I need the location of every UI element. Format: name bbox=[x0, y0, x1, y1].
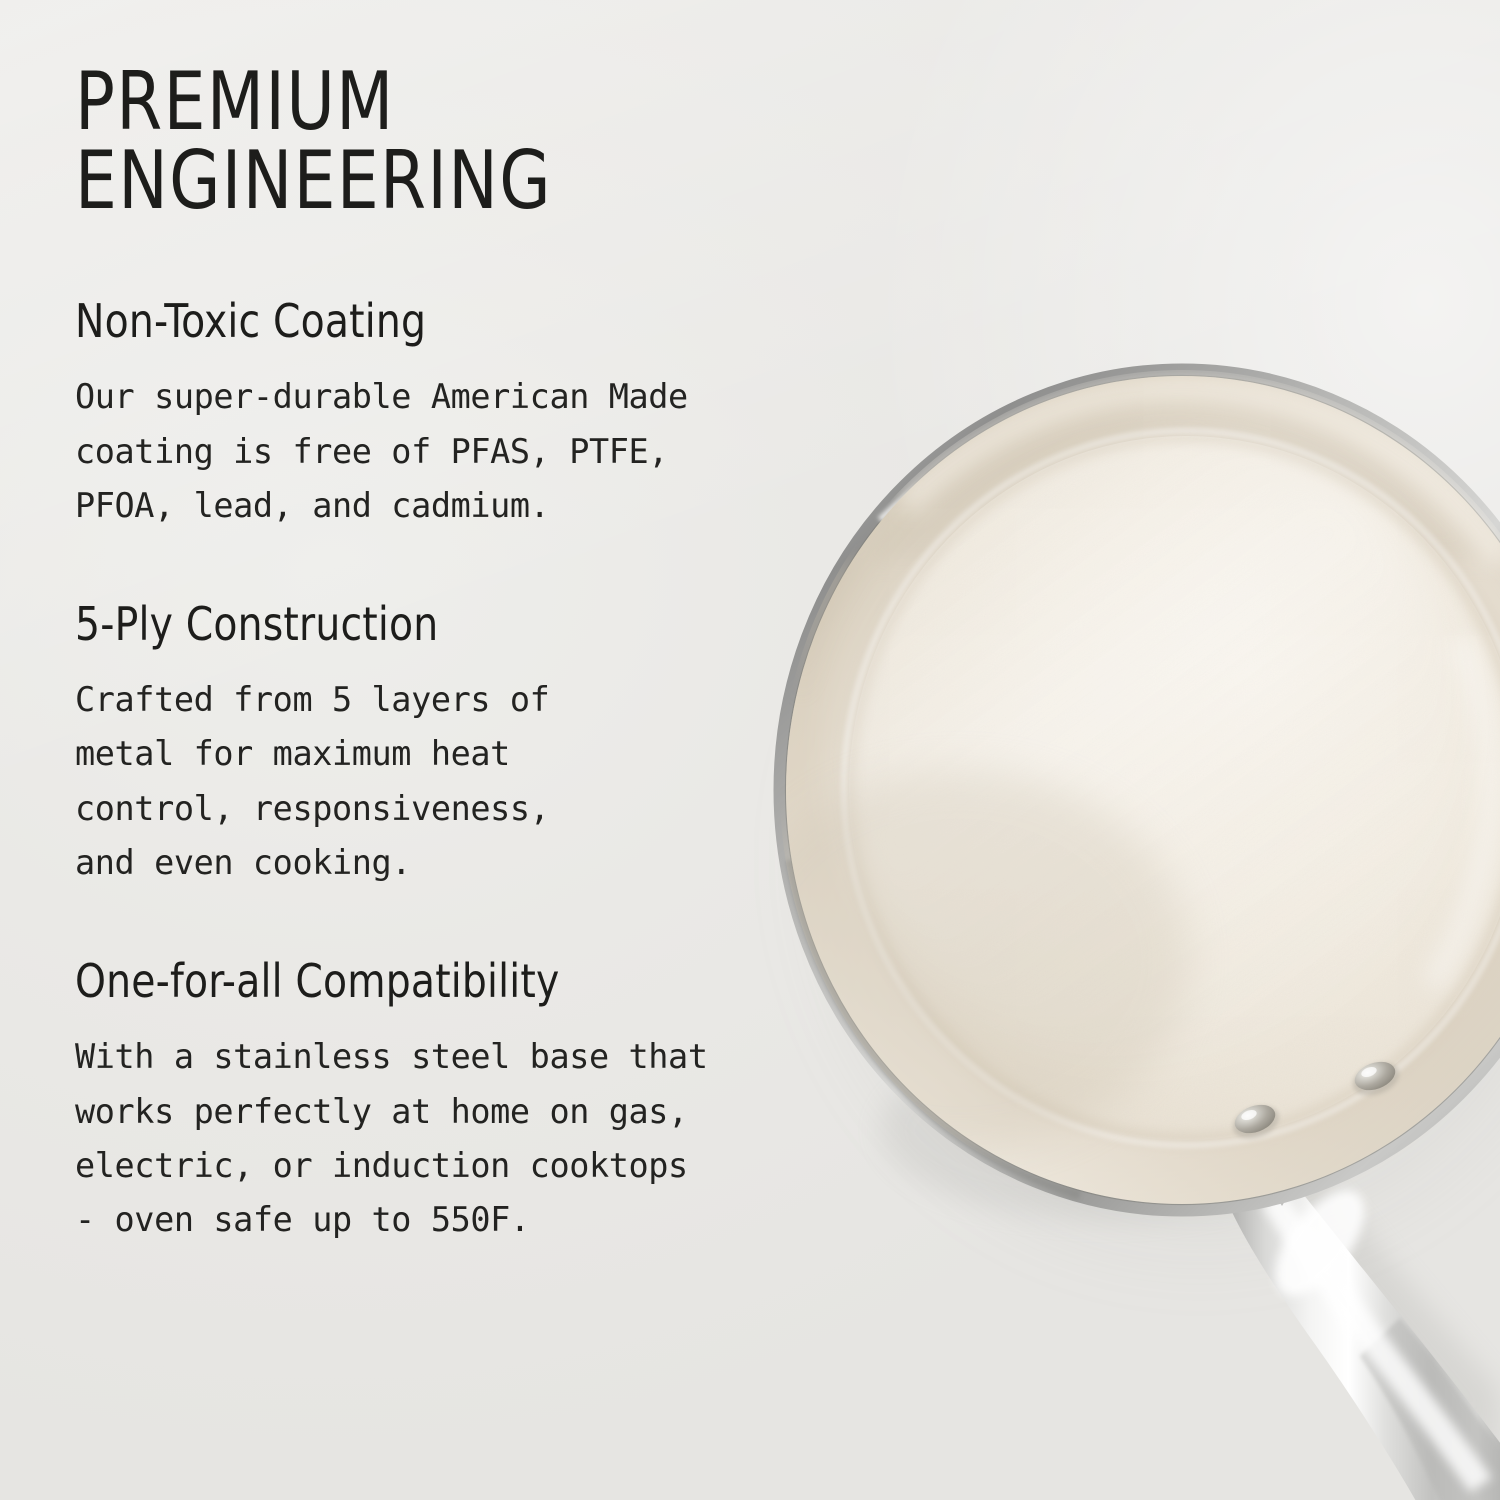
feature-non-toxic-coating: Non-Toxic Coating Our super-durable Amer… bbox=[75, 294, 865, 533]
rivet-upper-right bbox=[1348, 1057, 1403, 1102]
feature-title-5-ply-construction: 5-Ply Construction bbox=[75, 597, 826, 651]
feature-body-one-for-all-compatibility: With a stainless steel base that works p… bbox=[75, 1030, 865, 1247]
feature-title-one-for-all-compatibility: One-for-all Compatibility bbox=[75, 954, 826, 1008]
pan-rivets bbox=[1228, 1057, 1403, 1145]
pan-handle bbox=[1224, 1128, 1500, 1500]
pan-body bbox=[776, 366, 1500, 1214]
feature-body-non-toxic-coating: Our super-durable American Made coating … bbox=[75, 370, 865, 533]
pan-drop-shadow bbox=[780, 430, 1500, 1470]
page-title: PREMIUM ENGINEERING bbox=[75, 62, 802, 220]
rivet-lower-left bbox=[1228, 1100, 1283, 1145]
feature-title-non-toxic-coating: Non-Toxic Coating bbox=[75, 294, 826, 348]
feature-body-5-ply-construction: Crafted from 5 layers of metal for maxim… bbox=[75, 673, 865, 890]
feature-one-for-all-compatibility: One-for-all Compatibility With a stainle… bbox=[75, 954, 865, 1247]
feature-5-ply-construction: 5-Ply Construction Crafted from 5 layers… bbox=[75, 597, 865, 890]
feature-text-column: PREMIUM ENGINEERING Non-Toxic Coating Ou… bbox=[75, 62, 865, 1247]
